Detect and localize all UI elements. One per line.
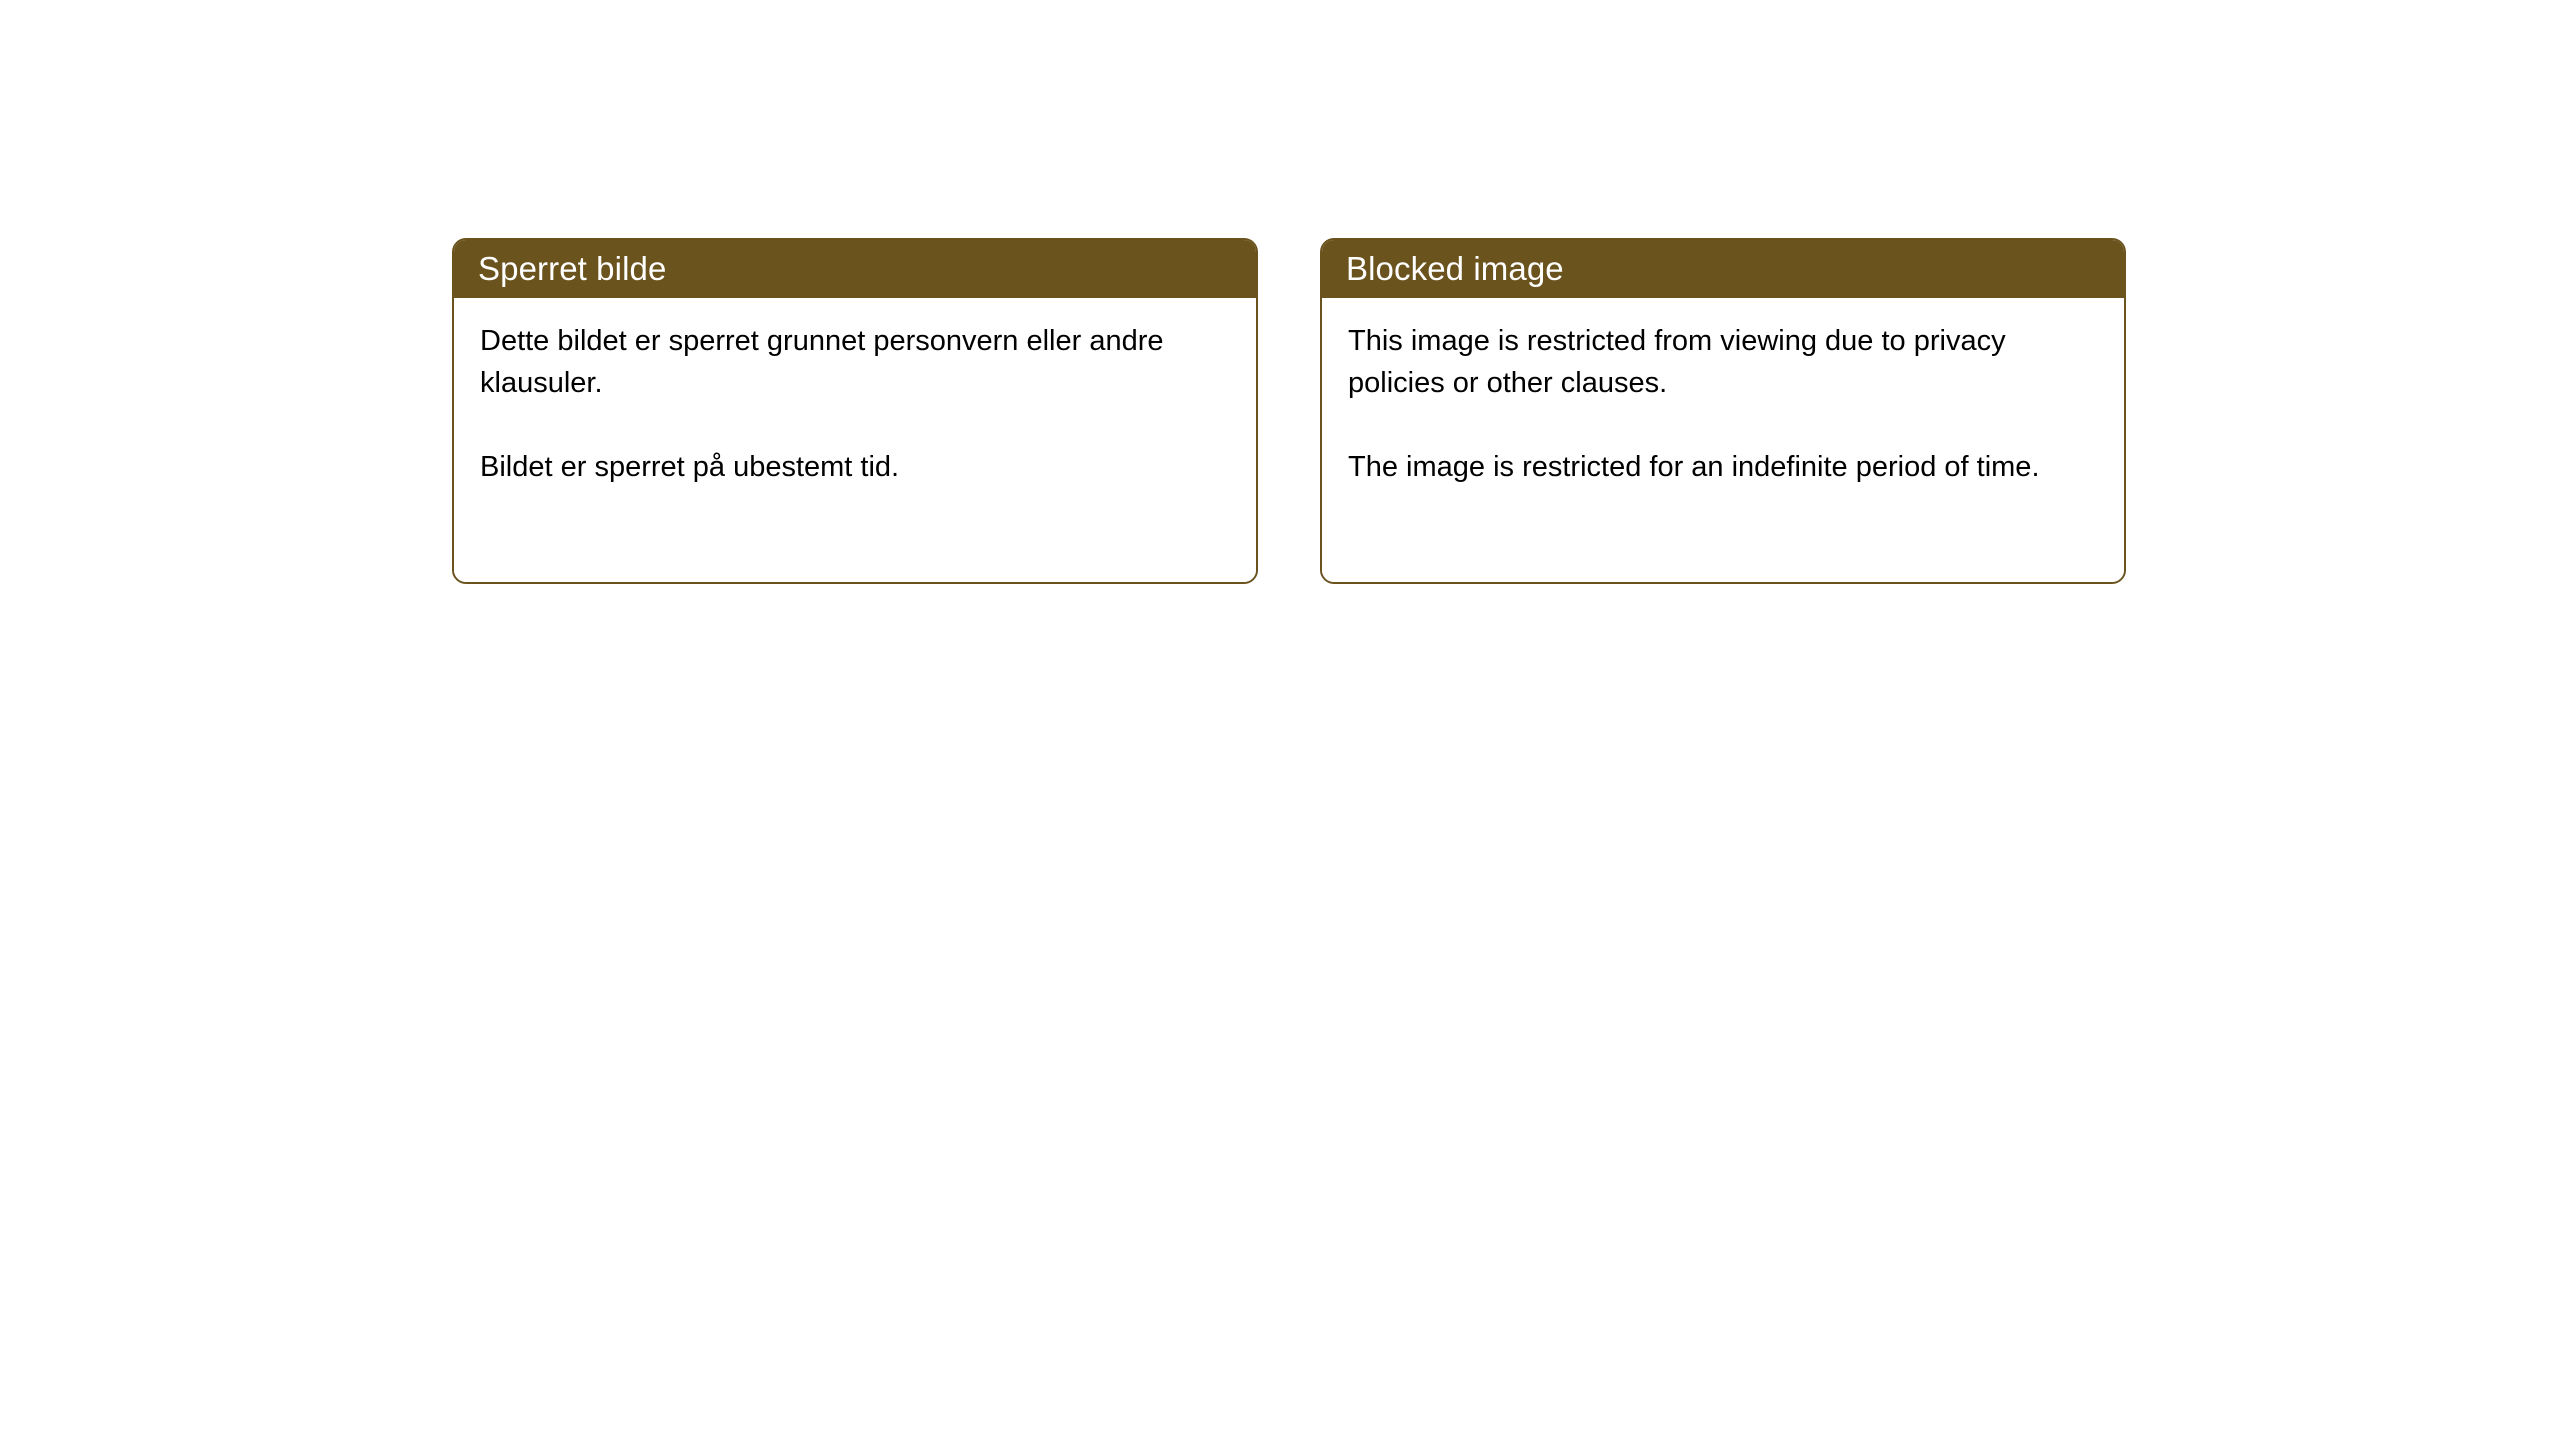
- card-title-norwegian: Sperret bilde: [478, 250, 666, 288]
- blocked-image-card-norwegian: Sperret bilde Dette bildet er sperret gr…: [452, 238, 1258, 584]
- card-paragraph-privacy-english: This image is restricted from viewing du…: [1348, 320, 2088, 404]
- card-body-english: This image is restricted from viewing du…: [1322, 298, 2124, 582]
- notice-card-row: Sperret bilde Dette bildet er sperret gr…: [452, 238, 2126, 584]
- card-paragraph-duration-norwegian: Bildet er sperret på ubestemt tid.: [480, 446, 1220, 488]
- card-paragraph-privacy-norwegian: Dette bildet er sperret grunnet personve…: [480, 320, 1220, 404]
- card-paragraph-duration-english: The image is restricted for an indefinit…: [1348, 446, 2088, 488]
- blocked-image-card-english: Blocked image This image is restricted f…: [1320, 238, 2126, 584]
- page-root: Sperret bilde Dette bildet er sperret gr…: [0, 0, 2560, 1440]
- card-body-norwegian: Dette bildet er sperret grunnet personve…: [454, 298, 1256, 582]
- card-header-norwegian: Sperret bilde: [454, 240, 1256, 298]
- card-title-english: Blocked image: [1346, 250, 1564, 288]
- card-header-english: Blocked image: [1322, 240, 2124, 298]
